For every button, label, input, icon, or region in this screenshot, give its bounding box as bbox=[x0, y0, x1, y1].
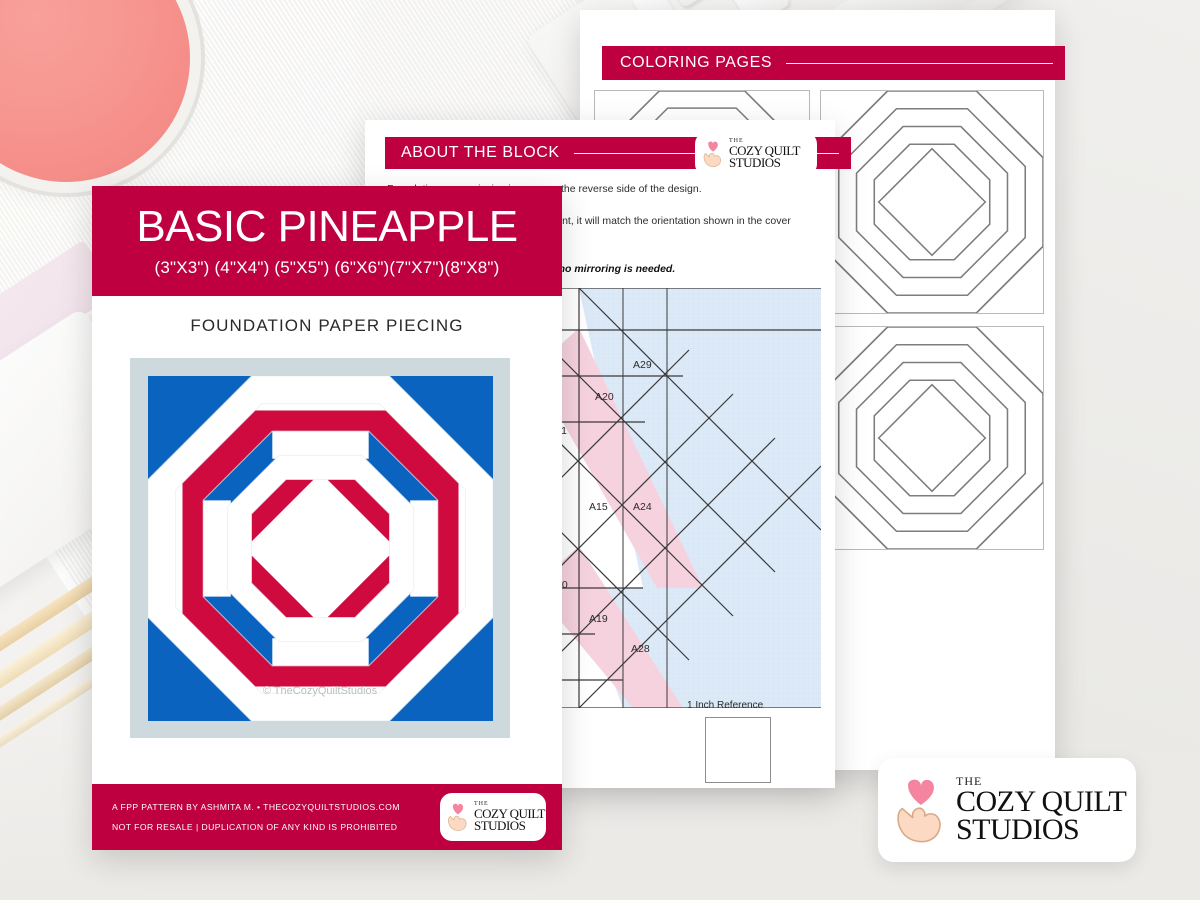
svg-text:A20: A20 bbox=[595, 391, 614, 403]
logo-footer[interactable]: THE COZY QUILT STUDIOS bbox=[440, 793, 546, 841]
desk-scene: option COLORING PAGES bbox=[0, 0, 1200, 900]
logo-wordmark: THE COZY QUILT STUDIOS bbox=[729, 139, 800, 169]
coloring-block[interactable] bbox=[820, 326, 1044, 550]
heart-hand-svg bbox=[701, 139, 725, 169]
pineapple-outline-icon bbox=[821, 91, 1043, 313]
svg-text:A15: A15 bbox=[589, 501, 608, 513]
cover-sheet[interactable]: BASIC PINEAPPLE (3"X3") (4"X4") (5"X5") … bbox=[92, 186, 562, 850]
svg-text:A19: A19 bbox=[589, 613, 608, 625]
quilt-block[interactable]: © TheCozyQuiltStudios bbox=[148, 376, 493, 721]
logo-small[interactable]: THE COZY QUILT STUDIOS bbox=[695, 132, 817, 176]
quilt-block-frame: © TheCozyQuiltStudios bbox=[130, 358, 510, 738]
footer-license: NOT FOR RESALE | DUPLICATION OF ANY KIND… bbox=[112, 822, 397, 832]
heart-hand-icon bbox=[445, 801, 471, 833]
logo-wordmark: THE COZY QUILT STUDIOS bbox=[474, 802, 545, 832]
logo-line-1: COZY QUILT bbox=[956, 788, 1126, 816]
heart-hand-icon bbox=[701, 139, 725, 169]
logo-line-2: STUDIOS bbox=[729, 157, 800, 169]
brand-badge[interactable]: THE COZY QUILT STUDIOS bbox=[878, 758, 1136, 862]
coloring-pages-header: COLORING PAGES bbox=[602, 46, 1065, 80]
inch-reference-label: 1 Inch Reference bbox=[687, 700, 763, 711]
about-title: ABOUT THE BLOCK bbox=[401, 144, 560, 162]
svg-text:A28: A28 bbox=[631, 643, 650, 655]
cover-sizes: (3"X3") (4"X4") (5"X5") (6"X6")(7"X7")(8… bbox=[154, 258, 499, 278]
header-rule bbox=[786, 63, 1053, 64]
logo-line-2: STUDIOS bbox=[474, 820, 545, 832]
cover-footer: A FPP PATTERN BY ASHMITA M. • THECOZYQUI… bbox=[92, 784, 562, 850]
cover-subtitle: FOUNDATION PAPER PIECING bbox=[92, 316, 562, 336]
heart-hand-svg bbox=[892, 774, 950, 846]
pineapple-outline-icon bbox=[821, 327, 1043, 549]
logo-wordmark: THE COZY QUILT STUDIOS bbox=[956, 776, 1126, 844]
svg-text:A24: A24 bbox=[633, 501, 652, 513]
cover-title-band: BASIC PINEAPPLE (3"X3") (4"X4") (5"X5") … bbox=[92, 186, 562, 296]
heart-hand-icon bbox=[892, 774, 950, 846]
pineapple-block-svg bbox=[148, 376, 493, 721]
coloring-pages-title: COLORING PAGES bbox=[620, 54, 772, 72]
inch-reference-box bbox=[705, 717, 771, 783]
coloring-block[interactable] bbox=[820, 90, 1044, 314]
logo-line-2: STUDIOS bbox=[956, 816, 1126, 844]
watermark: © TheCozyQuiltStudios bbox=[148, 685, 493, 697]
svg-text:A29: A29 bbox=[633, 359, 652, 371]
page-title: BASIC PINEAPPLE bbox=[136, 205, 517, 249]
footer-credit: A FPP PATTERN BY ASHMITA M. • THECOZYQUI… bbox=[112, 802, 400, 812]
heart-hand-svg bbox=[445, 801, 471, 833]
